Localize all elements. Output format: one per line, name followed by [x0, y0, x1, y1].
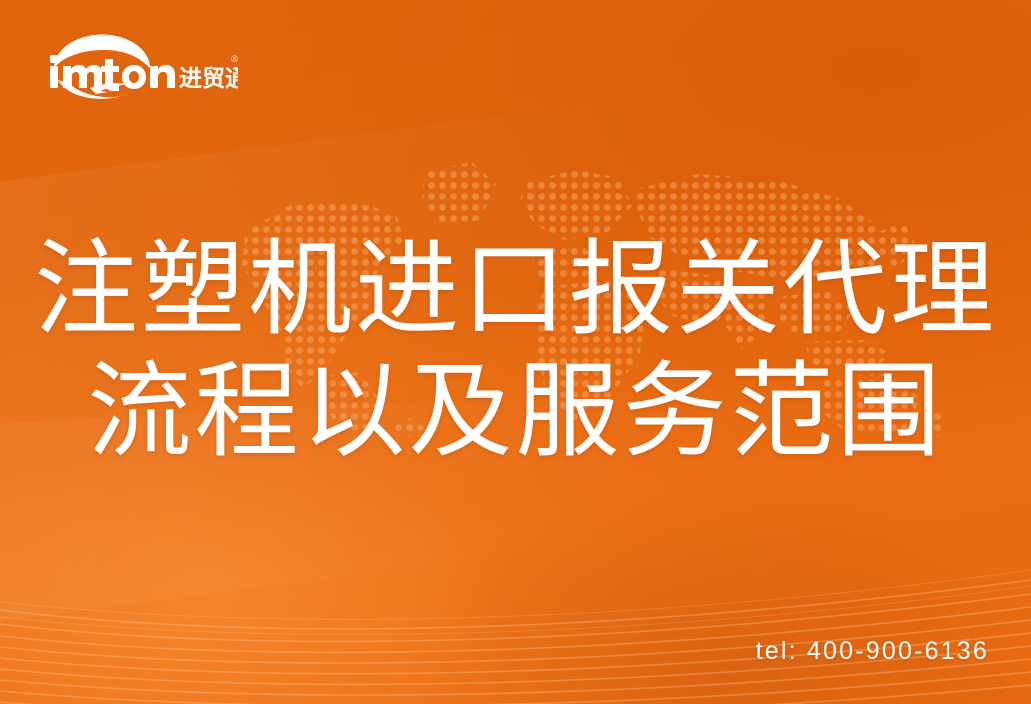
title-line-1: 注塑机进口报关代理	[0, 228, 1031, 350]
logo-chinese-name: 进贸通	[179, 66, 238, 92]
trademark-symbol: ®	[230, 55, 238, 65]
poster-canvas: 进贸通 ® 注塑机进口报关代理 流程以及服务范围 tel: 400-900-61…	[0, 0, 1031, 704]
globe-icon	[54, 34, 150, 68]
page-title: 注塑机进口报关代理 流程以及服务范围	[0, 228, 1031, 472]
title-line-2: 流程以及服务范围	[0, 350, 1031, 472]
brand-logo[interactable]: 进贸通 ®	[38, 28, 238, 100]
contact-phone[interactable]: tel: 400-900-6136	[756, 637, 989, 666]
logo-wordmark	[50, 55, 175, 91]
